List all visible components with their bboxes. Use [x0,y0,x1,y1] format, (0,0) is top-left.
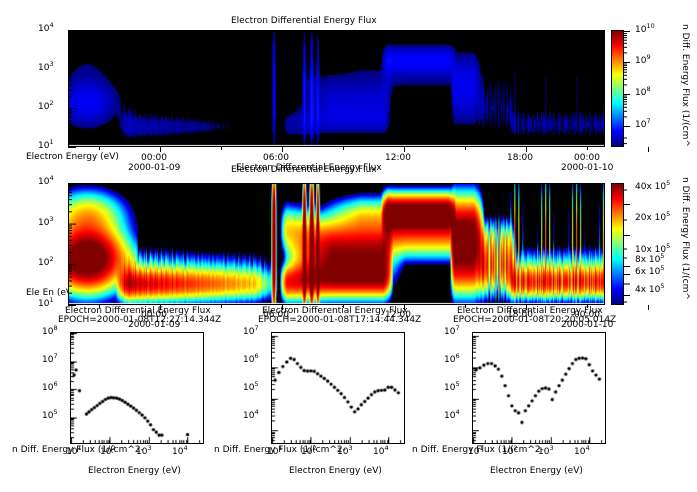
panel4-ytick-1e6: 106 [243,355,259,365]
panel1-colorbar[interactable] [611,30,624,147]
panel1-y-ticks [68,30,82,148]
panel4-ytick-1e7: 107 [243,327,259,337]
panel2-spectrogram[interactable] [68,183,605,305]
panel1-title: Electron Differential Energy Flux [231,16,377,26]
panel1-cbar-tick-1e9: 109 [635,56,651,66]
panel1-xtick-0000b: 00:00 [574,153,600,163]
panel3-x-axis-label: Electron Energy (eV) [88,466,181,476]
panel4-plot-area[interactable] [271,332,405,444]
panel5-xtick-1e3: 103 [538,447,554,457]
panel5-xtick-1e1: 101 [468,447,484,457]
panel2-cbar-tick-20e5: 20x 105 [635,213,670,223]
panel1-xtick-0000a: 00:00 [141,153,167,163]
panel2-ytick-1e1: 101 [38,299,54,309]
panel1-ytick-1e3: 103 [38,63,54,73]
panel3-plot-area[interactable] [70,332,204,444]
panel1-ytick-1e1: 101 [38,141,54,151]
panel1-xtick-0600: 06:00 [263,153,289,163]
panel1-ytick-1e4: 104 [38,24,54,34]
panel2-ytick-1e3: 103 [38,218,54,228]
panel2-cbar-tick-4e5: 4x 105 [635,285,665,295]
panel2-y-ticks [68,183,82,306]
panel3-xtick-1e4: 104 [172,447,188,457]
panel4-xtick-1e1: 101 [267,447,283,457]
panel4-xtick-1e3: 103 [337,447,353,457]
panel1-cbar-tick-1e8: 108 [635,88,651,98]
panel3-ytick-1e5: 105 [42,411,58,421]
panel5-ytick-1e5: 105 [444,383,460,393]
panel4-ytick-1e4: 104 [243,411,259,421]
panel3-ytick-1e8: 108 [42,327,58,337]
panel2-colorbar[interactable] [611,183,624,305]
panel1-date-end: 2000-01-10 [561,163,613,173]
panel2-colorbar-label: n Diff. Energy Flux (1/(cm^ [680,177,690,300]
panel3-xtick-1e2: 102 [100,447,116,457]
panel4-ytick-1e5: 105 [243,383,259,393]
panel2-ytick-1e2: 102 [38,258,54,268]
panel2-ytick-1e4: 104 [38,177,54,187]
panel5-ytick-1e6: 106 [444,355,460,365]
panel2-cbar-tick-10e5: 10x 105 [635,245,670,255]
panel5-epoch: EPOCH=2000-01-08T20:20:05.014Z [453,315,616,325]
panel1-colorbar-label: n Diff. Energy Flux (1/(cm^ [680,24,690,147]
panel1-ytick-1e2: 102 [38,102,54,112]
panel3-xtick-1e1: 101 [66,447,82,457]
panel4-x-axis-label: Electron Energy (eV) [289,466,382,476]
panel1-xtick-1800: 18:00 [507,153,533,163]
panel1-x-axis-label: Electron Differential Energy Flux [236,163,382,173]
panel5-ytick-1e7: 107 [444,327,460,337]
panel4-xtick-1e4: 104 [373,447,389,457]
panel1-spectrogram[interactable] [68,30,605,147]
panel5-ytick-1e4: 104 [444,411,460,421]
panel1-xtick-1200: 12:00 [385,153,411,163]
panel2-cbar-tick-8e5: 8x 105 [635,255,665,265]
panel5-plot-area[interactable] [472,332,606,444]
panel2-cbar-tick-40e5: 40x 105 [635,182,670,192]
panel3-ytick-1e7: 107 [42,355,58,365]
panel4-epoch: EPOCH=2000-01-08T17:14:44.344Z [258,315,421,325]
panel3-ytick-1e6: 106 [42,383,58,393]
panel3-epoch: EPOCH=2000-01-08T12:27:14.344Z [58,315,221,325]
panel3-xtick-1e3: 103 [136,447,152,457]
panel4-xtick-1e2: 102 [301,447,317,457]
panel1-cbar-tick-1e7: 107 [635,120,651,130]
panel5-x-axis-label: Electron Energy (eV) [490,466,583,476]
panel2-cbar-tick-6e5: 6x 105 [635,267,665,277]
panel1-cbar-tick-1e10: 1010 [635,25,655,35]
panel5-xtick-1e2: 102 [502,447,518,457]
panel5-xtick-1e4: 104 [574,447,590,457]
panel1-date-start: 2000-01-09 [128,163,180,173]
